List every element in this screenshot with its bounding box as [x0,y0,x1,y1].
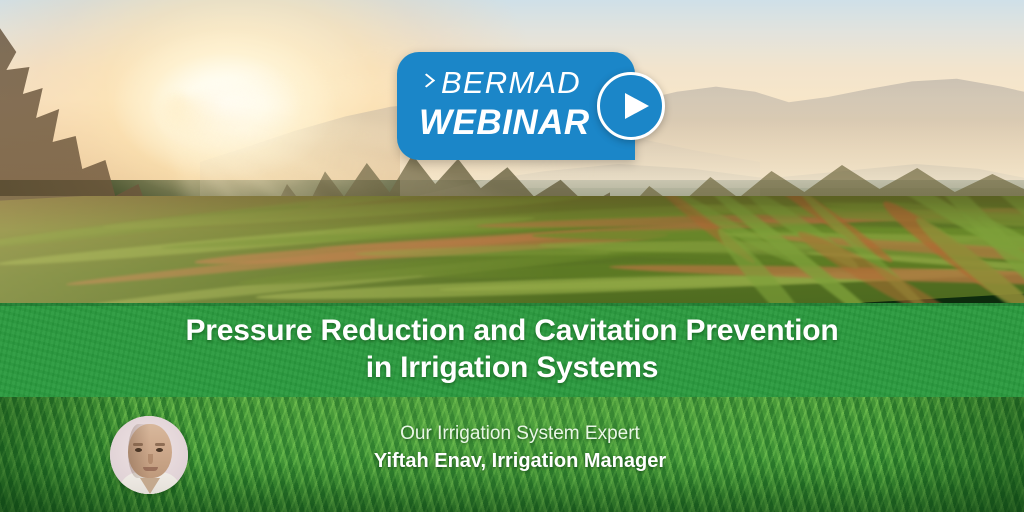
avatar-brow-left [133,443,143,446]
avatar [110,416,188,494]
field-sunlight [0,196,560,306]
avatar-brow-right [155,443,165,446]
title-band: Pressure Reduction and Cavitation Preven… [0,303,1024,399]
badge-webinar-label: WEBINAR [419,102,590,144]
webinar-banner: BERMAD WEBINAR Pressure Reduction and Ca… [0,0,1024,512]
avatar-eye-right [156,448,163,452]
page-title: Pressure Reduction and Cavitation Preven… [0,312,1024,386]
badge-brand-label: BERMAD [441,64,581,102]
badge-brand-row: BERMAD [421,64,581,102]
avatar-mouth [143,467,158,471]
terraced-field [0,196,1024,306]
play-triangle-icon [625,93,649,119]
presenter-role: Our Irrigation System Expert [190,421,850,446]
presenter-name: Yiftah Enav, Irrigation Manager [190,448,850,474]
chevron-right-icon [421,73,432,91]
play-button[interactable] [597,72,665,140]
presenter-block: Our Irrigation System Expert Yiftah Enav… [190,421,850,474]
avatar-nose [148,454,153,464]
avatar-eye-left [135,448,142,452]
